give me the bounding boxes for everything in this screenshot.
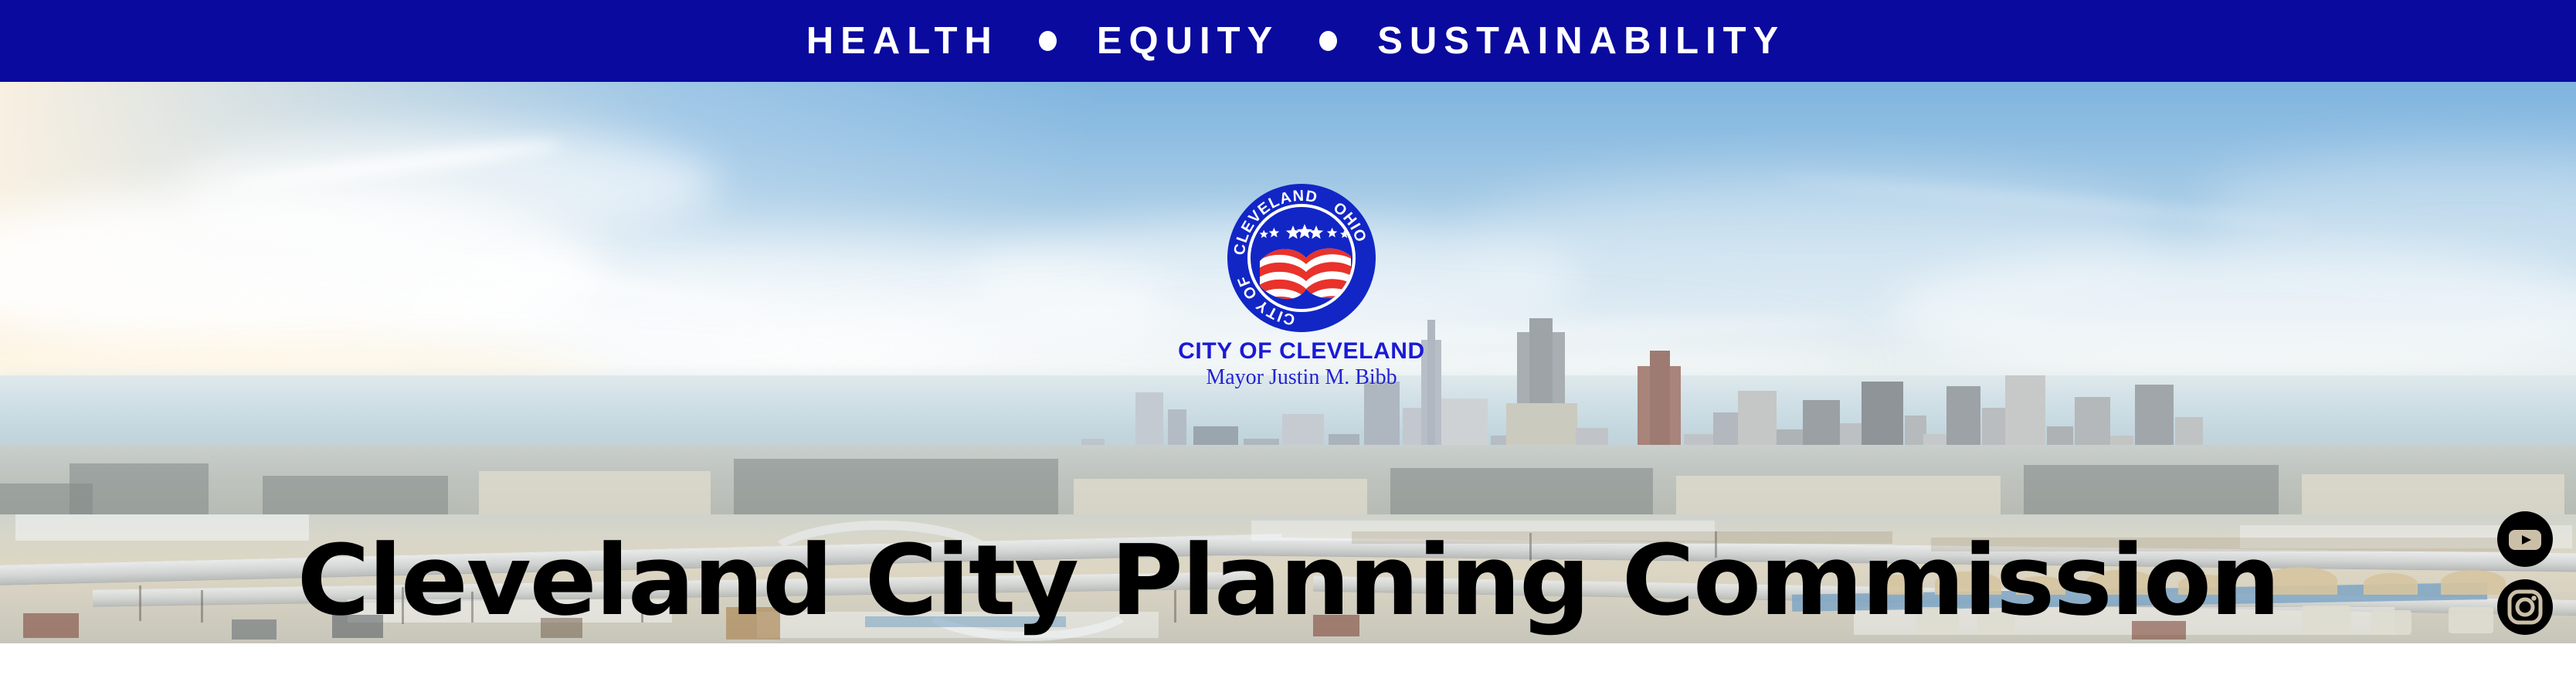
hero-photo: CLEVELAND CITY OF OHIO: [0, 82, 2576, 643]
city-of-cleveland-seal-icon: CLEVELAND CITY OF OHIO: [1227, 184, 1376, 332]
tagline-inner: HEALTH EQUITY SUSTAINABILITY: [806, 22, 1785, 60]
instagram-icon: [2506, 588, 2544, 626]
tagline-word-equity: EQUITY: [1097, 22, 1279, 60]
city-seal-block: CLEVELAND CITY OF OHIO: [1159, 184, 1444, 389]
youtube-icon: [2505, 519, 2545, 559]
seal-title: CITY OF CLEVELAND: [1159, 339, 1444, 364]
tagline-bar: HEALTH EQUITY SUSTAINABILITY: [0, 0, 2576, 82]
seal-waving-flag-icon: [1254, 238, 1356, 312]
mayor-name: Mayor Justin M. Bibb: [1159, 366, 1444, 390]
bullet-dot-icon-2: [1319, 31, 1337, 51]
seal-inner-disc: [1247, 204, 1356, 312]
bullet-dot-icon-1: [1039, 31, 1057, 51]
social-links: [2497, 511, 2553, 643]
youtube-button[interactable]: [2497, 511, 2553, 567]
page-title: Cleveland City Planning Commission: [0, 532, 2576, 629]
tagline-word-sustainability: SUSTAINABILITY: [1377, 22, 1785, 60]
instagram-button[interactable]: [2497, 579, 2553, 635]
bottom-whitespace: [0, 643, 2576, 682]
banner-page: HEALTH EQUITY SUSTAINABILITY: [0, 0, 2576, 682]
tagline-word-health: HEALTH: [806, 22, 999, 60]
